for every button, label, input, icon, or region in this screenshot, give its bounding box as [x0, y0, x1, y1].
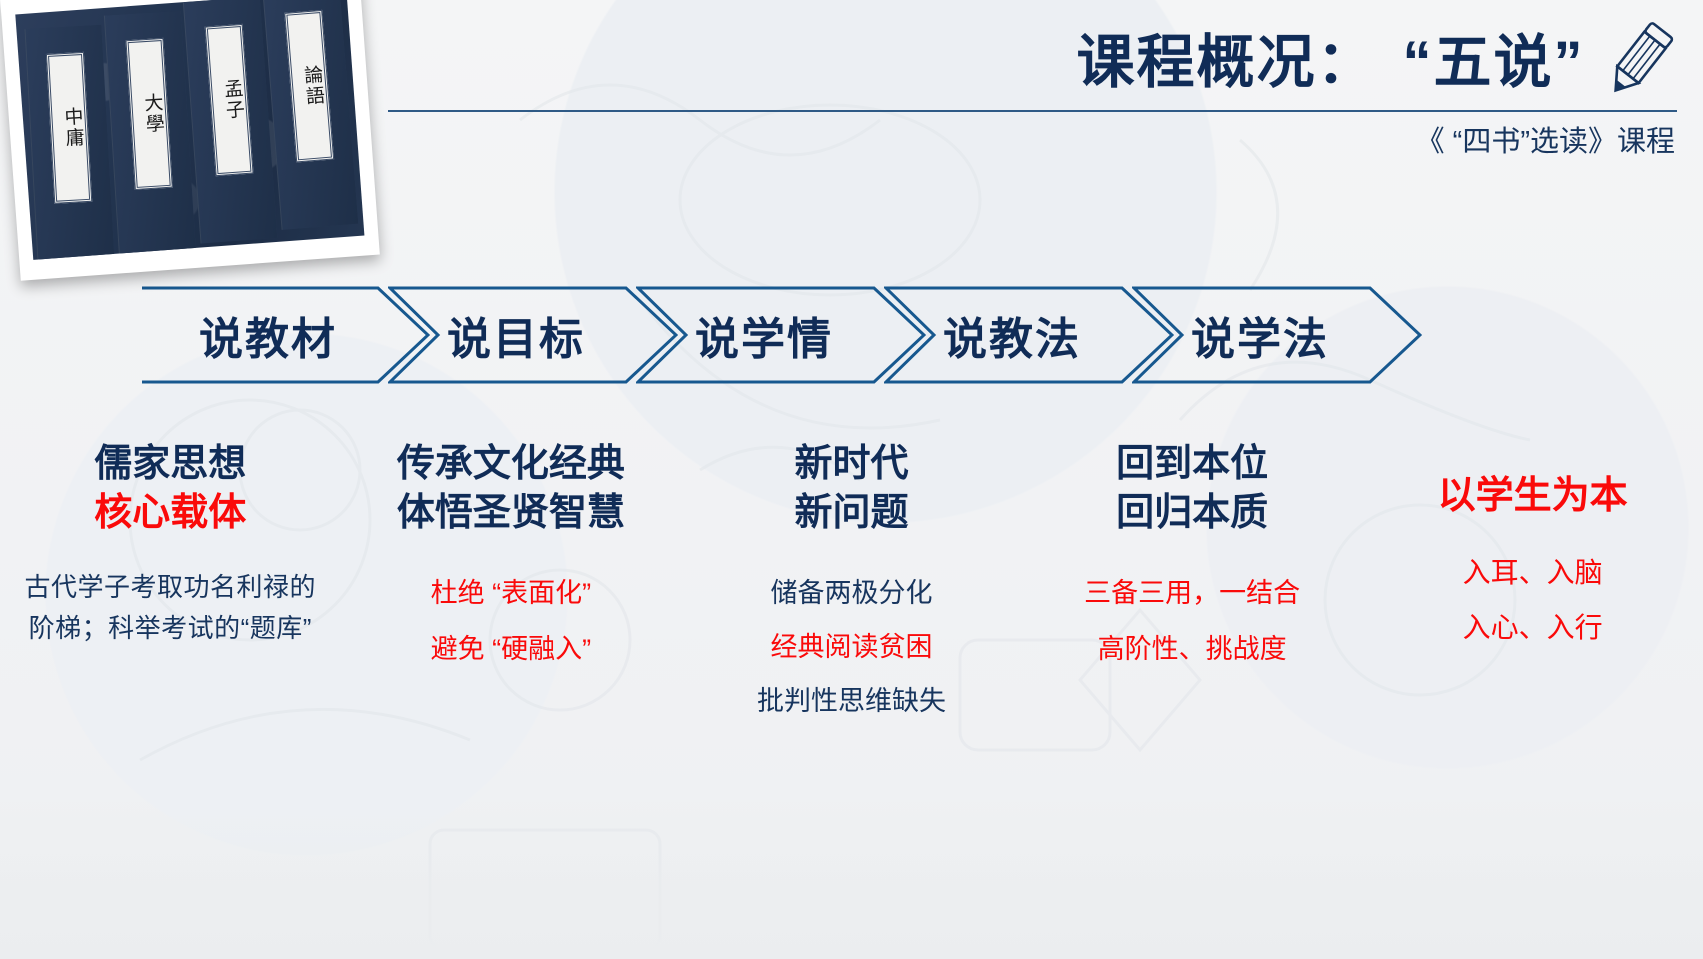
header-divider — [388, 110, 1677, 112]
headline-line: 回到本位 — [1028, 440, 1357, 489]
book-title-label: 孟子 — [205, 24, 254, 176]
book-spine: 論語 — [262, 0, 358, 230]
body-line: 批判性思维缺失 — [687, 681, 1016, 723]
body-line: 避免 “硬融入” — [347, 629, 676, 671]
process-step-3[interactable]: 说学情 — [636, 286, 926, 384]
process-step-label: 说学情 — [636, 286, 926, 384]
book-spine: 孟子 — [183, 0, 278, 244]
pencil-icon — [1599, 18, 1677, 109]
process-step-label: 说教材 — [140, 286, 430, 384]
body-line: 三备三用，一结合 — [1028, 573, 1357, 615]
content-column-5: 以学生为本 入耳、入脑 入心、入行 — [1362, 440, 1703, 800]
content-column-2: 传承文化经典 体悟圣贤智慧 杜绝 “表面化” 避免 “硬融入” — [341, 440, 682, 800]
headline-line: 儒家思想 — [6, 440, 335, 489]
process-step-1[interactable]: 说教材 — [140, 286, 430, 384]
column-body: 杜绝 “表面化” 避免 “硬融入” — [347, 573, 676, 671]
body-line: 经典阅读贫困 — [687, 627, 1016, 669]
column-headline: 以学生为本 — [1368, 472, 1697, 521]
column-headline: 回到本位 回归本质 — [1028, 440, 1357, 537]
process-step-label: 说教法 — [884, 286, 1174, 384]
content-columns: 儒家思想 核心载体 古代学子考取功名利禄的 阶梯；科举考试的“题库” 传承文化经… — [0, 440, 1703, 800]
photo-image: 中庸 大學 孟子 論語 — [15, 0, 364, 260]
book-spine: 大學 — [104, 11, 196, 257]
process-step-5[interactable]: 说学法 — [1132, 286, 1422, 384]
process-step-2[interactable]: 说目标 — [388, 286, 678, 384]
column-body: 三备三用，一结合 高阶性、挑战度 — [1028, 573, 1357, 671]
column-headline: 儒家思想 核心载体 — [6, 440, 335, 537]
column-headline: 传承文化经典 体悟圣贤智慧 — [347, 440, 676, 537]
headline-line: 新时代 — [687, 440, 1016, 489]
headline-line: 核心载体 — [6, 489, 335, 538]
body-line: 入耳、入脑 — [1368, 551, 1697, 594]
process-step-4[interactable]: 说教法 — [884, 286, 1174, 384]
content-column-4: 回到本位 回归本质 三备三用，一结合 高阶性、挑战度 — [1022, 440, 1363, 800]
bottom-gradient — [0, 799, 1703, 959]
page-title-main: 课程概况： — [1077, 30, 1377, 95]
column-body: 储备两极分化 经典阅读贫困 批判性思维缺失 — [687, 573, 1016, 723]
body-line: 杜绝 “表面化” — [347, 573, 676, 615]
process-step-label: 说目标 — [388, 286, 678, 384]
body-line: 阶梯；科举考试的“题库” — [6, 608, 335, 648]
headline-line: 以学生为本 — [1368, 472, 1697, 521]
process-step-label: 说学法 — [1132, 286, 1422, 384]
course-subtitle: 《 “四书”选读》课程 — [1416, 118, 1675, 160]
column-body: 古代学子考取功名利禄的 阶梯；科举考试的“题库” — [6, 567, 335, 648]
book-title-label: 大學 — [125, 38, 172, 190]
book-spine: 中庸 — [25, 25, 115, 260]
body-line: 储备两极分化 — [687, 573, 1016, 615]
page-title-quoted: “五说” — [1403, 30, 1585, 95]
content-column-3: 新时代 新问题 储备两极分化 经典阅读贫困 批判性思维缺失 — [681, 440, 1022, 800]
body-line: 高阶性、挑战度 — [1028, 629, 1357, 671]
column-body: 入耳、入脑 入心、入行 — [1368, 551, 1697, 650]
slide-header: 课程概况：“五说” — [1077, 18, 1677, 109]
content-column-1: 儒家思想 核心载体 古代学子考取功名利禄的 阶梯；科举考试的“题库” — [0, 440, 341, 800]
body-line: 古代学子考取功名利禄的 — [6, 567, 335, 607]
headline-line: 传承文化经典 — [347, 440, 676, 489]
headline-line: 体悟圣贤智慧 — [347, 489, 676, 538]
book-title-label: 中庸 — [46, 52, 92, 204]
book-title-label: 論語 — [284, 10, 334, 163]
process-chevron-bar: 说教材 说目标 说学情 说教法 说学法 — [140, 286, 1490, 384]
headline-line: 回归本质 — [1028, 489, 1357, 538]
column-headline: 新时代 新问题 — [687, 440, 1016, 537]
body-line: 入心、入行 — [1368, 606, 1697, 649]
headline-line: 新问题 — [687, 489, 1016, 538]
page-title: 课程概况：“五说” — [1077, 33, 1585, 94]
four-books-photo: 中庸 大學 孟子 論語 — [0, 0, 380, 281]
